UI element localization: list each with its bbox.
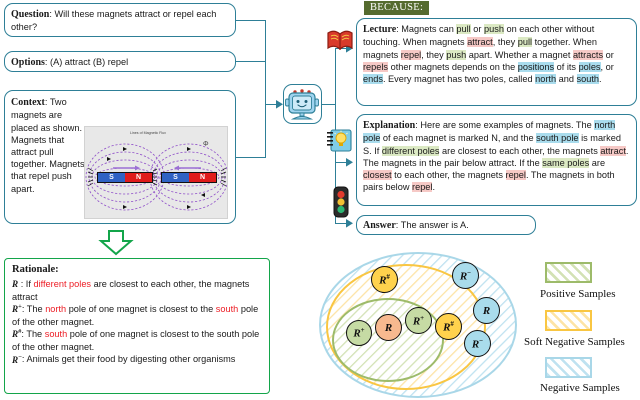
question-label: Question: Will these magnets attract or … [11, 9, 216, 32]
venn-node-r-2: R [375, 314, 402, 341]
answer-label: Answer [363, 220, 396, 231]
legend-swatch-negative [545, 357, 592, 378]
venn-node-r-hash-1: R# [371, 266, 398, 293]
left-magnet: S N [97, 172, 153, 183]
highlighted-term: repel [401, 50, 421, 60]
highlighted-term: push [484, 24, 504, 34]
body-text: , they [421, 50, 446, 60]
body-text: : Magnets can [396, 24, 456, 34]
left-magnet-north: N [125, 173, 152, 182]
question-box: Question: Will these magnets attract or … [4, 3, 236, 37]
arrow-explanation-icon [346, 158, 354, 167]
traffic-light-icon [331, 186, 351, 220]
highlighted-term: repel [506, 170, 526, 180]
body-text: : Here are some examples of magnets. The [415, 120, 594, 130]
rationale-title: Rationale: [12, 263, 262, 277]
body-text: . [599, 74, 602, 84]
highlighted-term: repels [363, 62, 388, 72]
venn-node-r-1: R [473, 297, 500, 324]
body-text: and [556, 74, 576, 84]
right-magnet-north: N [189, 173, 216, 182]
legend-label-negative: Negative Samples [540, 382, 620, 394]
highlighted-term: south [577, 74, 599, 84]
options-text: : (A) attract (B) repel [45, 57, 128, 67]
connector-left-spine [265, 20, 266, 158]
explanation-box: Explanation: Here are some examples of m… [356, 114, 637, 206]
highlighted-term: pull [456, 24, 470, 34]
robot-icon [284, 85, 321, 123]
highlighted-term: attract [467, 37, 493, 47]
robot-box [283, 84, 322, 124]
highlighted-term: poles [579, 62, 601, 72]
left-magnet-south: S [98, 173, 125, 182]
body-text: . Every magnet has two poles, called [383, 74, 535, 84]
highlighted-term: push [446, 50, 466, 60]
highlighted-term: pull [518, 37, 532, 47]
connector-options [236, 61, 266, 62]
right-magnet: S N [161, 172, 217, 183]
body-text: to each other, the magnets [392, 170, 506, 180]
venn-node-r-plus-2: R+ [405, 307, 432, 334]
right-magnet-south: S [162, 173, 189, 182]
legend-swatch-positive [545, 262, 592, 283]
body-text: of each magnet is marked N, and the [380, 133, 536, 143]
connector-question [236, 20, 266, 21]
highlighted-term: south pole [536, 133, 578, 143]
rationale-item-rhash: R#: The south pole of one magnet is clos… [12, 328, 262, 353]
down-arrow-icon [98, 230, 134, 256]
explanation-label: Explanation [363, 120, 415, 131]
body-text: are closest to each other, the magnets [439, 146, 600, 156]
body-text: of its [554, 62, 579, 72]
body-text: are [589, 158, 605, 168]
because-tag: BECAUSE: [364, 1, 429, 15]
highlighted-term: ends [363, 74, 383, 84]
connector-context [236, 157, 266, 158]
highlighted-term: closest [363, 170, 392, 180]
highlighted-term: same poles [542, 158, 589, 168]
answer-box: Answer: The answer is A. [356, 215, 536, 235]
venn-node-r-minus-2: R− [464, 330, 491, 357]
body-text: or [603, 50, 614, 60]
lecture-label: Lecture [363, 24, 396, 35]
highlighted-term: attract [600, 146, 626, 156]
body-text: . [432, 182, 435, 192]
rationale-item-rplus: R+: The north pole of one magnet is clos… [12, 303, 262, 328]
rationale-item-rminus: R−: Animals get their food by digesting … [12, 353, 262, 366]
highlighted-term: positions [518, 62, 554, 72]
body-text: other magnets depends on the [388, 62, 518, 72]
rationale-item-r: R : If different poles are closest to ea… [12, 278, 262, 303]
body-text: , or [601, 62, 614, 72]
highlighted-term: attracts [573, 50, 603, 60]
context-text: : Two magnets are placed as shown. Magne… [11, 97, 85, 194]
rationale-box: Rationale: R : If different poles are cl… [4, 258, 270, 394]
context-text-col: Context: Two magnets are placed as shown… [11, 96, 85, 195]
venn-node-r-hash-2: R# [435, 313, 462, 340]
body-text: , they [493, 37, 518, 47]
notepad-lightbulb-icon [327, 127, 353, 153]
options-label: Options: (A) attract (B) repel [11, 57, 128, 67]
body-text: apart. Whether a magnet [466, 50, 573, 60]
venn-node-r-minus-1: R− [452, 262, 479, 289]
book-icon [326, 27, 354, 53]
magnetic-flux-diagram: Lines of Magnetic Flux Φ [84, 126, 228, 219]
options-box: Options: (A) attract (B) repel [4, 51, 236, 72]
legend-swatch-soft-negative [545, 310, 592, 331]
legend-label-soft-negative: Soft Negative Samples [524, 336, 625, 348]
lecture-box: Lecture: Magnets can pull or push on eac… [356, 18, 637, 106]
highlighted-term: north [535, 74, 556, 84]
venn-node-r-plus-1: R+ [346, 320, 372, 346]
lecture-text: : Magnets can pull or push on each other… [363, 24, 614, 84]
highlighted-term: different poles [382, 146, 440, 156]
answer-text: : The answer is A. [396, 220, 469, 230]
arrow-answer-icon [346, 219, 354, 228]
body-text: or [471, 24, 484, 34]
legend-label-positive: Positive Samples [540, 288, 615, 300]
connector-robot-out [322, 104, 336, 105]
highlighted-term: repel [412, 182, 432, 192]
